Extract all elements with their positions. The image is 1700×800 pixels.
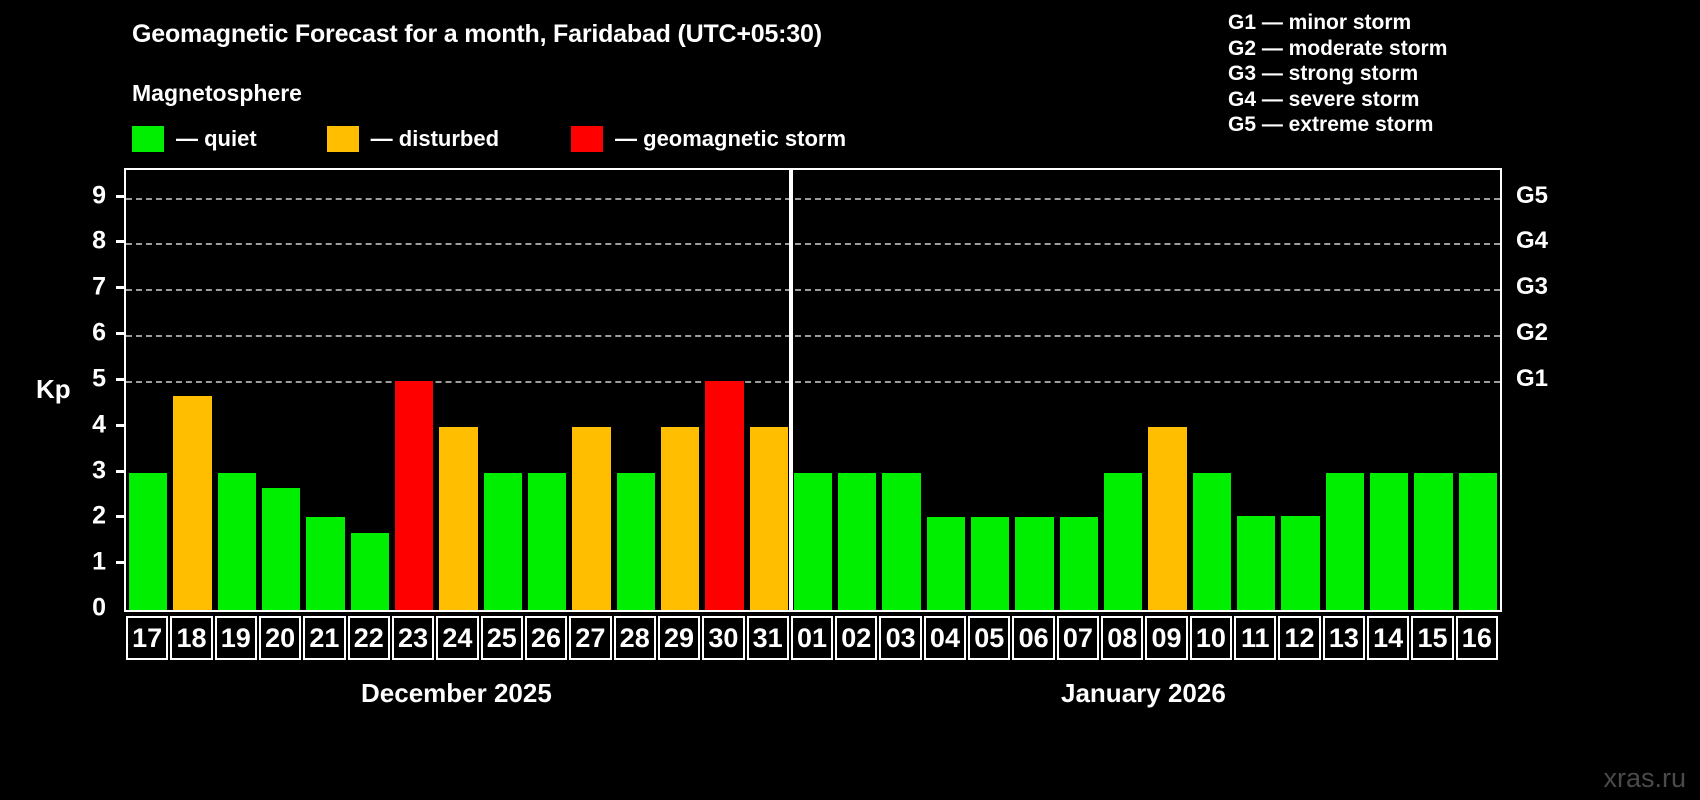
- plot-inner: [126, 170, 1500, 610]
- g-scale-line-5: G5 — extreme storm: [1228, 112, 1447, 138]
- day-label-03: 03: [879, 616, 921, 660]
- day-label-29: 29: [658, 616, 700, 660]
- y-tick-mark-9: [116, 195, 126, 198]
- y-tick-mark-1: [116, 561, 126, 564]
- bar-04: [927, 517, 965, 610]
- y-tick-6: 6: [72, 319, 106, 348]
- page-title: Geomagnetic Forecast for a month, Farida…: [132, 20, 822, 49]
- bar-15: [1414, 473, 1452, 611]
- bar-25: [484, 473, 522, 611]
- legend-swatch-disturbed: [327, 126, 359, 152]
- day-label-26: 26: [525, 616, 567, 660]
- day-label-17: 17: [126, 616, 168, 660]
- bar-17: [129, 473, 167, 611]
- day-label-12: 12: [1278, 616, 1320, 660]
- g-axis-tick-G5: G5: [1516, 182, 1548, 210]
- bar-24: [439, 427, 477, 610]
- day-label-07: 07: [1057, 616, 1099, 660]
- bar-13: [1326, 473, 1364, 611]
- magnetosphere-label: Magnetosphere: [132, 80, 302, 107]
- bar-29: [661, 427, 699, 610]
- bar-30: [705, 381, 743, 610]
- day-label-16: 16: [1456, 616, 1498, 660]
- y-tick-mark-5: [116, 378, 126, 381]
- g-axis-tick-G2: G2: [1516, 319, 1548, 347]
- day-label-18: 18: [170, 616, 212, 660]
- bar-07: [1060, 517, 1098, 610]
- y-tick-mark-3: [116, 470, 126, 473]
- bar-14: [1370, 473, 1408, 611]
- day-label-20: 20: [259, 616, 301, 660]
- g-scale-line-3: G3 — strong storm: [1228, 61, 1447, 87]
- legend-label-disturbed: — disturbed: [371, 126, 499, 152]
- day-label-11: 11: [1234, 616, 1276, 660]
- bar-11: [1237, 516, 1275, 610]
- day-label-28: 28: [614, 616, 656, 660]
- bar-05: [971, 517, 1009, 610]
- y-tick-9: 9: [72, 181, 106, 210]
- day-label-06: 06: [1012, 616, 1054, 660]
- bar-10: [1193, 473, 1231, 611]
- g-scale-legend: G1 — minor stormG2 — moderate stormG3 — …: [1228, 10, 1447, 138]
- bar-27: [572, 427, 610, 610]
- y-tick-mark-7: [116, 286, 126, 289]
- g-scale-line-4: G4 — severe storm: [1228, 87, 1447, 113]
- month-caption-december: December 2025: [361, 678, 552, 709]
- y-tick-mark-6: [116, 332, 126, 335]
- bar-06: [1015, 517, 1053, 610]
- legend-label-geomagnetic-storm: — geomagnetic storm: [615, 126, 846, 152]
- bar-31: [750, 427, 788, 610]
- day-label-10: 10: [1190, 616, 1232, 660]
- bar-22: [351, 533, 389, 610]
- bar-20: [262, 488, 300, 610]
- day-label-14: 14: [1367, 616, 1409, 660]
- g-scale-line-2: G2 — moderate storm: [1228, 36, 1447, 62]
- day-label-05: 05: [968, 616, 1010, 660]
- day-label-04: 04: [924, 616, 966, 660]
- y-tick-8: 8: [72, 227, 106, 256]
- y-tick-3: 3: [72, 456, 106, 485]
- y-axis-tick-labels: 9876543210: [72, 168, 106, 608]
- legend-entry-quiet: — quiet: [132, 126, 257, 152]
- bar-18: [173, 396, 211, 610]
- plot-area: [124, 168, 1502, 612]
- bar-01: [794, 473, 832, 611]
- day-label-27: 27: [569, 616, 611, 660]
- g-axis-tick-G4: G4: [1516, 227, 1548, 255]
- bar-28: [617, 473, 655, 611]
- bar-02: [838, 473, 876, 611]
- legend-label-quiet: — quiet: [176, 126, 257, 152]
- y-tick-mark-4: [116, 424, 126, 427]
- day-label-13: 13: [1323, 616, 1365, 660]
- y-tick-4: 4: [72, 410, 106, 439]
- bar-12: [1281, 516, 1319, 610]
- y-tick-1: 1: [72, 548, 106, 577]
- magnetosphere-legend: — quiet— disturbed— geomagnetic storm: [132, 124, 846, 154]
- y-tick-mark-8: [116, 240, 126, 243]
- bars-layer: [126, 170, 1500, 610]
- bar-19: [218, 473, 256, 611]
- day-label-19: 19: [215, 616, 257, 660]
- bar-16: [1459, 473, 1497, 611]
- y-tick-mark-2: [116, 515, 126, 518]
- day-label-08: 08: [1101, 616, 1143, 660]
- g-scale-line-1: G1 — minor storm: [1228, 10, 1447, 36]
- month-caption-january: January 2026: [1061, 678, 1226, 709]
- day-label-01: 01: [791, 616, 833, 660]
- y-tick-0: 0: [72, 594, 106, 623]
- bar-03: [882, 473, 920, 611]
- day-label-31: 31: [747, 616, 789, 660]
- bar-08: [1104, 473, 1142, 611]
- g-axis-tick-G3: G3: [1516, 273, 1548, 301]
- g-scale-axis-labels: G5G4G3G2G1: [1516, 168, 1576, 608]
- bar-26: [528, 473, 566, 611]
- day-label-02: 02: [835, 616, 877, 660]
- legend-swatch-quiet: [132, 126, 164, 152]
- day-axis-labels: 1718192021222324252627282930310102030405…: [124, 616, 1502, 660]
- day-label-30: 30: [702, 616, 744, 660]
- y-tick-5: 5: [72, 364, 106, 393]
- bar-23: [395, 381, 433, 610]
- day-label-22: 22: [348, 616, 390, 660]
- y-tick-7: 7: [72, 273, 106, 302]
- day-label-25: 25: [481, 616, 523, 660]
- watermark: xras.ru: [1603, 763, 1686, 794]
- legend-entry-disturbed: — disturbed: [327, 126, 499, 152]
- day-label-21: 21: [303, 616, 345, 660]
- y-tick-2: 2: [72, 502, 106, 531]
- month-divider-line: [789, 170, 793, 610]
- day-label-09: 09: [1145, 616, 1187, 660]
- day-label-23: 23: [392, 616, 434, 660]
- legend-swatch-geomagnetic-storm: [571, 126, 603, 152]
- day-label-15: 15: [1411, 616, 1453, 660]
- g-axis-tick-G1: G1: [1516, 365, 1548, 393]
- legend-entry-geomagnetic-storm: — geomagnetic storm: [571, 126, 846, 152]
- day-label-24: 24: [436, 616, 478, 660]
- y-axis-title: Kp: [36, 374, 71, 405]
- bar-21: [306, 517, 344, 610]
- bar-09: [1148, 427, 1186, 610]
